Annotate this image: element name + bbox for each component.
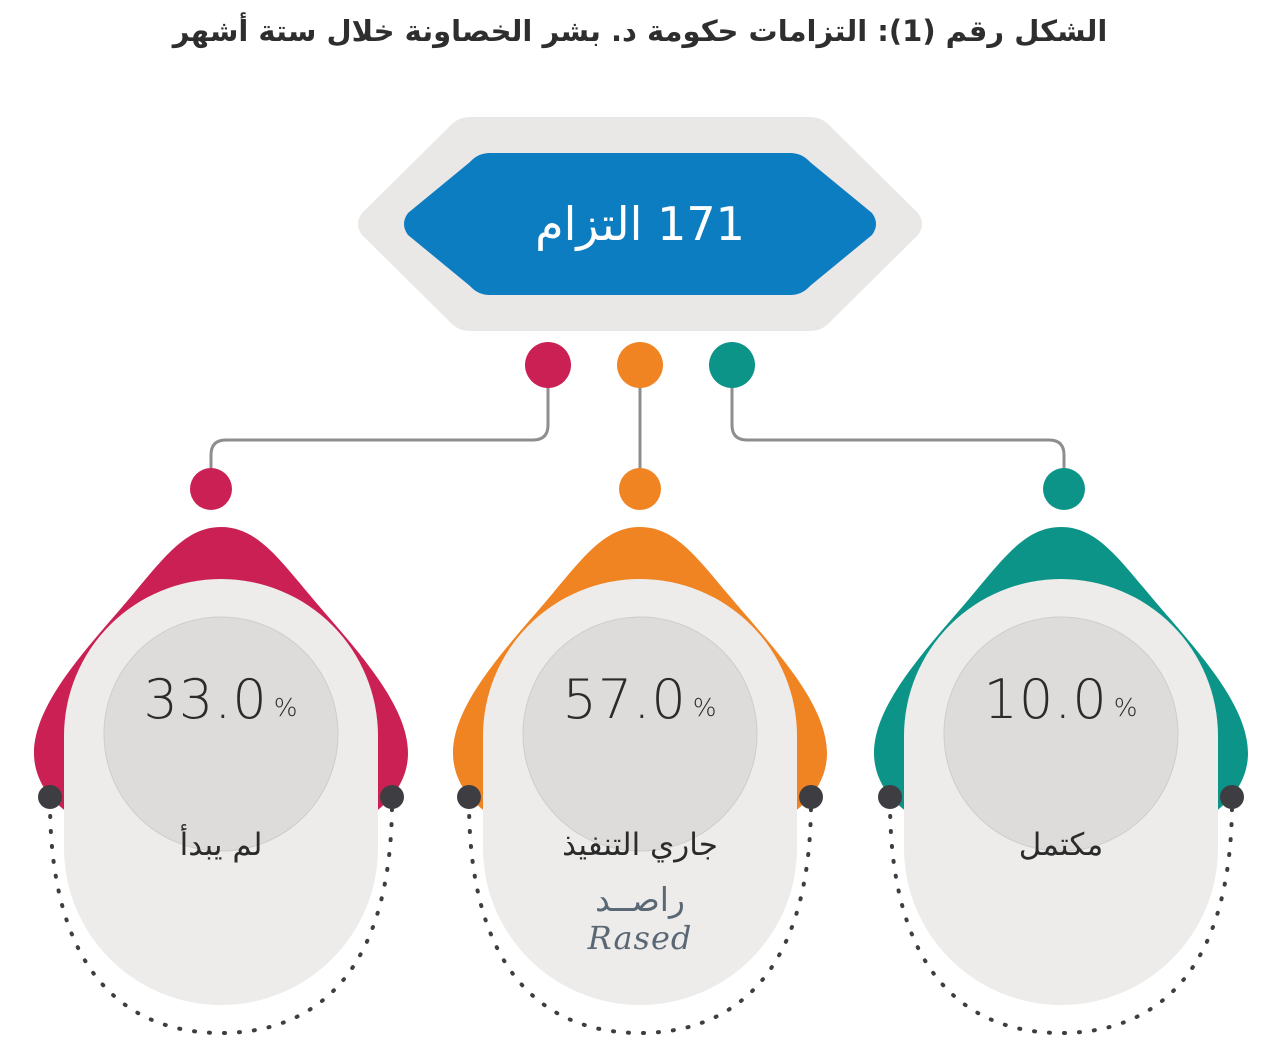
node-dot-top-in-progress	[617, 342, 663, 388]
percent-value-not-started: 33.0%	[8, 673, 434, 727]
connector-line-left	[211, 378, 548, 480]
node-dot-bottom-not-started	[190, 468, 232, 510]
node-dot-bottom-completed	[1043, 468, 1085, 510]
status-label-completed: مكتمل	[848, 827, 1274, 863]
status-cards-row: 33.0% لم يبدأ 57.0% جاري التنفيذ راصــد …	[0, 505, 1280, 1039]
connector-line-right	[732, 378, 1064, 480]
card-shape-not-started	[8, 505, 434, 1039]
percent-number-in-progress: 57.0	[563, 668, 687, 731]
arc-end-dot-left-in-progress	[457, 785, 481, 809]
inner-circle-completed	[944, 617, 1178, 851]
card-shape-completed	[848, 505, 1274, 1039]
percent-symbol-in-progress: %	[693, 693, 718, 722]
inner-circle-in-progress	[523, 617, 757, 851]
percent-symbol-completed: %	[1114, 693, 1139, 722]
node-dot-bottom-in-progress	[619, 468, 661, 510]
percent-value-completed: 10.0%	[848, 673, 1274, 727]
status-card-in-progress[interactable]: 57.0% جاري التنفيذ راصــد Rased	[427, 505, 853, 1039]
percent-number-not-started: 33.0	[144, 668, 268, 731]
banner-label: 171 التزام	[350, 113, 930, 335]
arc-end-dot-left-completed	[878, 785, 902, 809]
status-label-not-started: لم يبدأ	[8, 827, 434, 863]
infographic-canvas: الشكل رقم (1): التزامات حكومة د. بشر الخ…	[0, 0, 1280, 1039]
total-commitments-banner: 171 التزام	[350, 113, 930, 335]
arc-end-dot-right-completed	[1220, 785, 1244, 809]
status-card-completed[interactable]: 10.0% مكتمل	[848, 505, 1274, 1039]
connector-tree	[0, 330, 1280, 530]
arc-end-dot-left-not-started	[38, 785, 62, 809]
status-label-in-progress: جاري التنفيذ	[427, 827, 853, 863]
node-dot-top-completed	[709, 342, 755, 388]
percent-symbol-not-started: %	[274, 693, 299, 722]
status-card-not-started[interactable]: 33.0% لم يبدأ	[8, 505, 434, 1039]
percent-number-completed: 10.0	[984, 668, 1108, 731]
page-title: الشكل رقم (1): التزامات حكومة د. بشر الخ…	[0, 14, 1280, 48]
percent-value-in-progress: 57.0%	[427, 673, 853, 727]
inner-circle-not-started	[104, 617, 338, 851]
card-shape-in-progress	[427, 505, 853, 1039]
node-dot-top-not-started	[525, 342, 571, 388]
arc-end-dot-right-in-progress	[799, 785, 823, 809]
arc-end-dot-right-not-started	[380, 785, 404, 809]
